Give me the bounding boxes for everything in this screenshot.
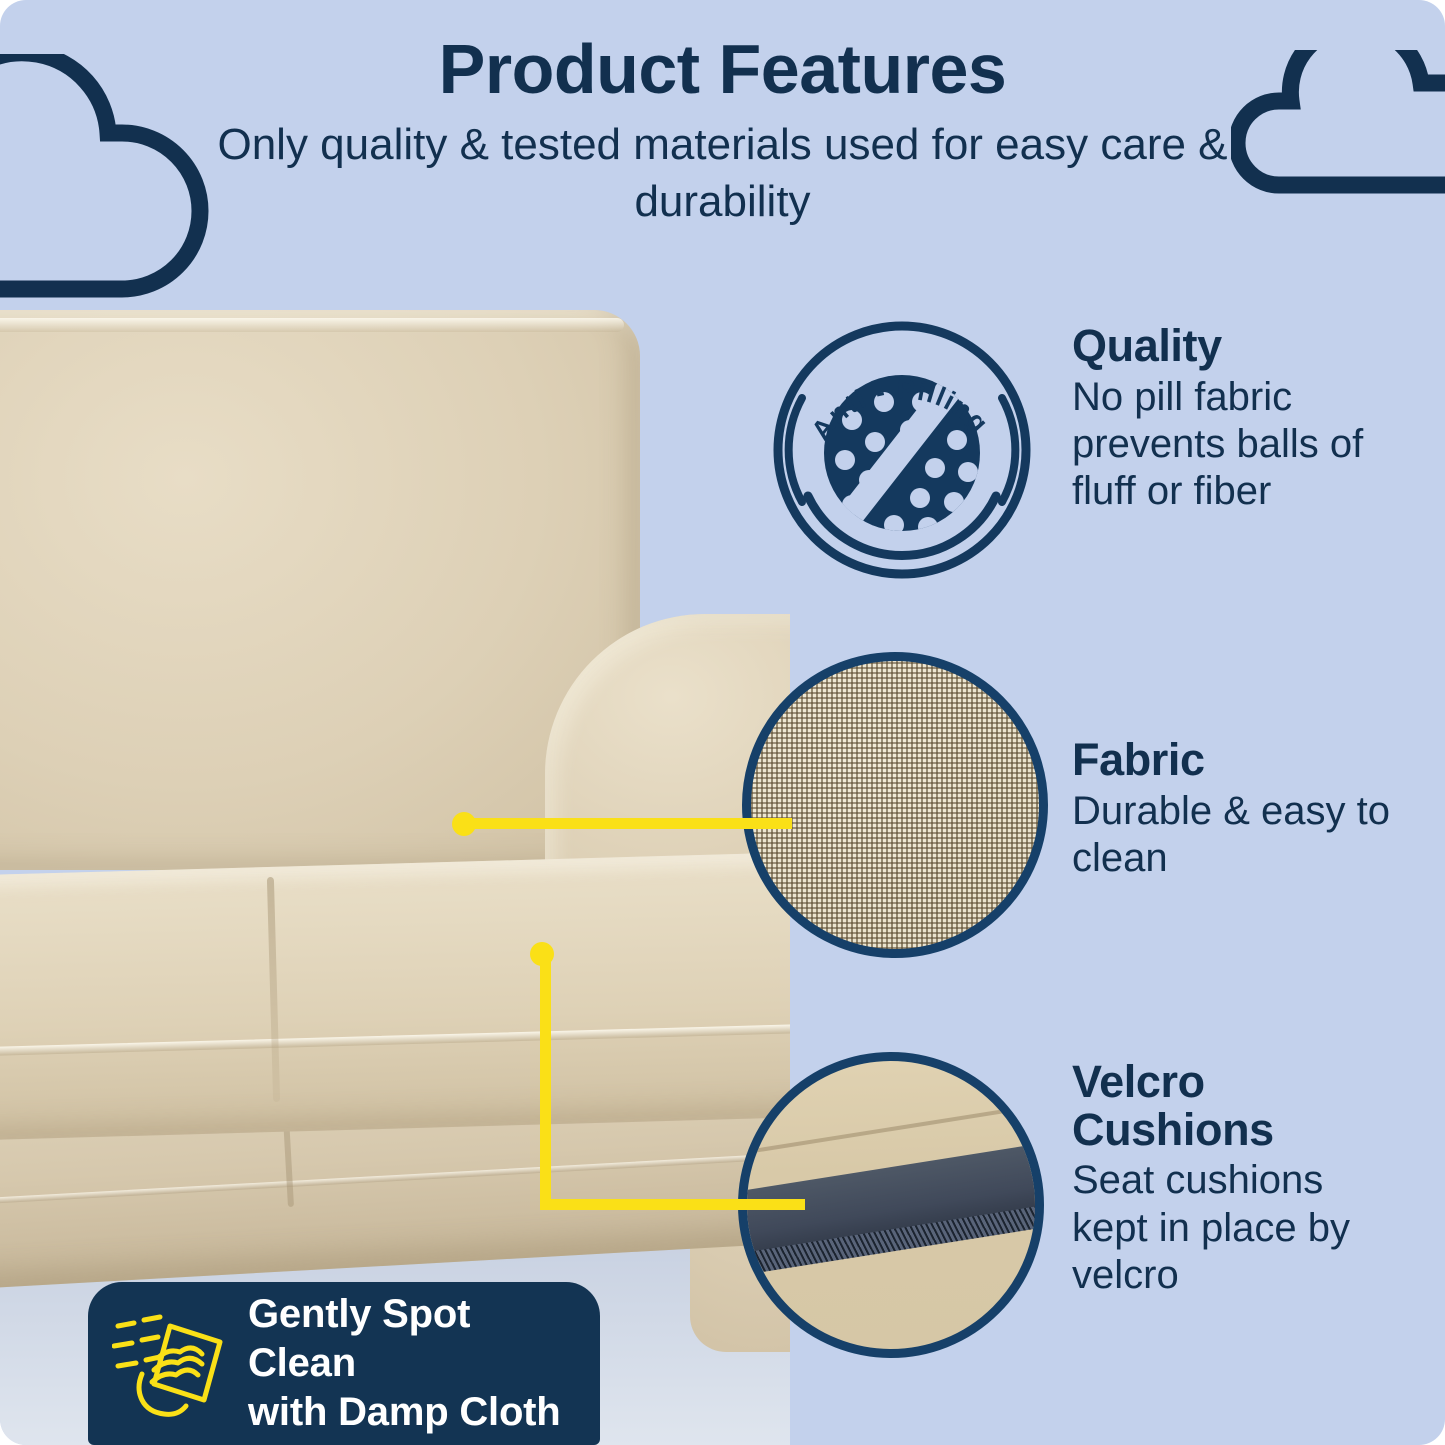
header: Product Features Only quality & tested m… — [0, 34, 1445, 230]
feature-fabric: Fabric Durable & easy to clean — [1072, 736, 1402, 882]
fabric-closeup-circle — [742, 652, 1048, 958]
banner-line-2: with Damp Cloth — [248, 1388, 580, 1437]
sofa-back-seam — [0, 318, 624, 332]
feature-velcro-heading: Velcro Cushions — [1072, 1058, 1402, 1153]
page-subtitle: Only quality & tested materials used for… — [0, 117, 1445, 230]
feature-velcro-body: Seat cushions kept in place by velcro — [1072, 1157, 1402, 1299]
anti-pilling-badge-icon: Anti - Pilling — [772, 320, 1032, 580]
sofa-back-cushion — [0, 310, 640, 870]
banner-line-1: Gently Spot Clean — [248, 1290, 580, 1388]
velcro-callout-line-horizontal — [540, 1199, 805, 1210]
page-title: Product Features — [0, 34, 1445, 105]
feature-quality: Quality No pill fabric prevents balls of… — [1072, 322, 1402, 515]
velcro-callout-line-vertical — [540, 952, 551, 1210]
banner-text: Gently Spot Clean with Damp Cloth — [248, 1290, 580, 1436]
hand-wiping-cloth-icon — [112, 1308, 230, 1420]
sofa-seat-cushions — [0, 848, 790, 1142]
feature-quality-heading: Quality — [1072, 322, 1402, 370]
feature-velcro: Velcro Cushions Seat cushions kept in pl… — [1072, 1058, 1402, 1299]
feature-fabric-heading: Fabric — [1072, 736, 1402, 784]
sofa-product-photo — [0, 292, 790, 1445]
feature-fabric-body: Durable & easy to clean — [1072, 788, 1402, 882]
product-features-card: Product Features Only quality & tested m… — [0, 0, 1445, 1445]
fabric-callout-line — [462, 818, 792, 829]
feature-quality-body: No pill fabric prevents balls of fluff o… — [1072, 374, 1402, 516]
care-instruction-banner: Gently Spot Clean with Damp Cloth — [88, 1282, 600, 1445]
